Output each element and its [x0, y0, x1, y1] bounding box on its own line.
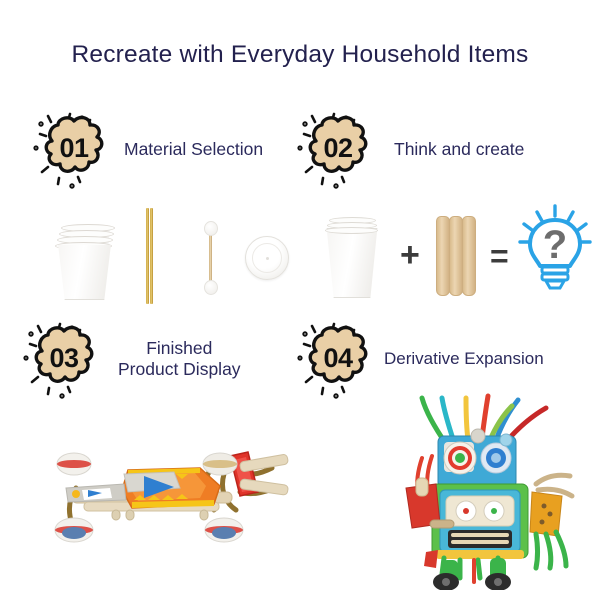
step-number: 02	[296, 133, 380, 164]
step-header-02: 02 Think and create	[296, 108, 524, 190]
equals-symbol: =	[490, 240, 509, 272]
step-label-03: Finished Product Display	[118, 338, 241, 379]
paper-cup-stack	[322, 214, 380, 296]
cloud-badge-icon: 01	[32, 108, 116, 190]
equation-row: + =	[312, 200, 582, 305]
step-number: 03	[22, 343, 106, 374]
materials-row	[50, 205, 290, 305]
cloud-badge-icon: 04	[296, 318, 380, 400]
plus-symbol: +	[400, 238, 420, 272]
lightbulb-question-icon: ?	[518, 204, 592, 296]
cloud-badge-icon: 02	[296, 108, 380, 190]
infographic-page: Recreate with Everyday Household Items 0…	[0, 0, 600, 600]
step-header-03: 03 Finished Product Display	[22, 318, 241, 400]
plastic-lid	[245, 236, 289, 280]
craft-race-car-photo	[24, 430, 299, 560]
cotton-swab	[203, 221, 217, 295]
popsicle-sticks	[436, 216, 478, 294]
step-number: 01	[32, 133, 116, 164]
step-label-02: Think and create	[394, 139, 524, 160]
step-header-04: 04 Derivative Expansion	[296, 318, 544, 400]
step-number: 04	[296, 343, 380, 374]
craft-robot-photo	[386, 392, 586, 590]
step-label-01: Material Selection	[124, 139, 263, 160]
step-header-01: 01 Material Selection	[32, 108, 263, 190]
step-label-04: Derivative Expansion	[384, 349, 544, 369]
bamboo-skewer-sticks	[146, 208, 156, 304]
paper-cup-stack	[54, 209, 116, 297]
page-title: Recreate with Everyday Household Items	[0, 41, 600, 69]
cloud-badge-icon: 03	[22, 318, 106, 400]
question-mark: ?	[543, 223, 567, 267]
